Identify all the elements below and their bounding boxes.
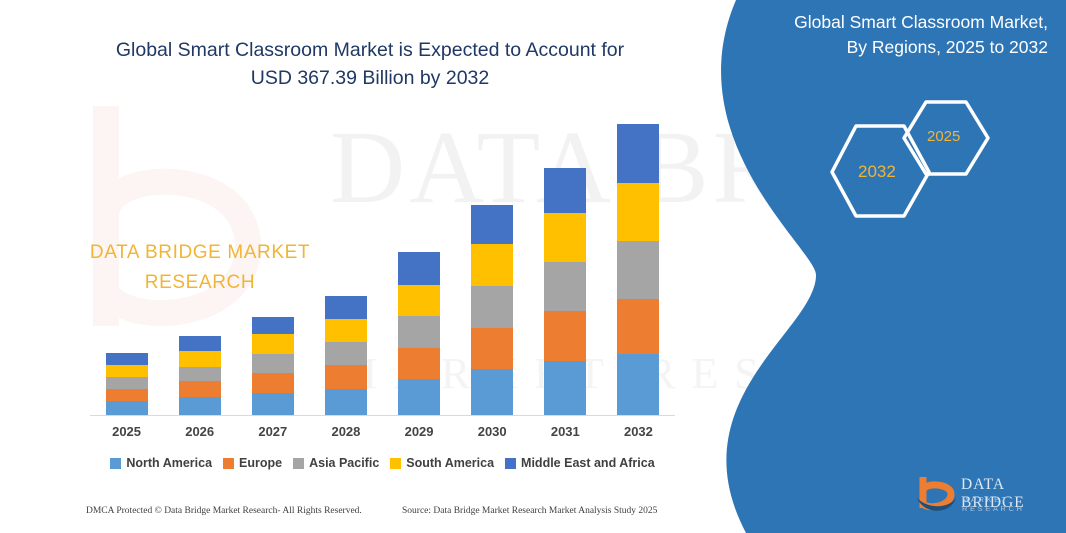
bar-segment-north-america	[471, 369, 513, 415]
bar-segment-asia-pacific	[398, 316, 440, 347]
legend-swatch-icon	[390, 458, 401, 469]
legend-label: Middle East and Africa	[521, 456, 655, 470]
panel-shape	[666, 0, 1066, 533]
legend-swatch-icon	[293, 458, 304, 469]
databridge-logo: DATA BRIDGE MARKET RESEARCH	[915, 474, 1055, 520]
bar-segment-south-america	[544, 213, 586, 262]
bar-segment-europe	[544, 311, 586, 360]
bar-segment-north-america	[544, 361, 586, 416]
panel-brand-line-2: RESEARCH	[0, 268, 400, 298]
bar-segment-north-america	[398, 379, 440, 415]
legend-label: North America	[126, 456, 212, 470]
x-axis-label-2032: 2032	[603, 424, 673, 439]
hexagon-label-2032: 2032	[858, 162, 896, 182]
bar-segment-europe	[398, 348, 440, 379]
bar-segment-middle-east-and-africa	[252, 317, 294, 335]
bar-segment-north-america	[252, 393, 294, 415]
bar-2025	[106, 353, 148, 415]
bar-segment-asia-pacific	[471, 286, 513, 328]
panel-brand-text: DATA BRIDGE MARKET RESEARCH	[0, 238, 400, 298]
chart-legend: North AmericaEuropeAsia PacificSouth Ame…	[90, 456, 675, 470]
x-axis-line	[90, 415, 675, 416]
bar-segment-asia-pacific	[252, 354, 294, 373]
x-axis-label-2030: 2030	[457, 424, 527, 439]
bar-2027	[252, 317, 294, 415]
bar-segment-south-america	[617, 183, 659, 241]
bar-segment-north-america	[179, 397, 221, 415]
bar-segment-north-america	[617, 354, 659, 415]
footer: DMCA Protected © Data Bridge Market Rese…	[0, 506, 700, 526]
bar-segment-europe	[471, 328, 513, 369]
bar-segment-middle-east-and-africa	[544, 168, 586, 213]
legend-swatch-icon	[505, 458, 516, 469]
x-axis-label-2028: 2028	[311, 424, 381, 439]
panel-title-line-1: Global Smart Classroom Market,	[794, 12, 1048, 32]
bar-segment-south-america	[252, 334, 294, 354]
bar-segment-south-america	[106, 365, 148, 378]
brand-panel: Global Smart Classroom Market, By Region…	[666, 0, 1066, 533]
bar-segment-asia-pacific	[325, 342, 367, 365]
bar-segment-europe	[179, 381, 221, 397]
bar-segment-south-america	[398, 285, 440, 316]
hexagon-label-2025: 2025	[927, 128, 960, 145]
legend-swatch-icon	[223, 458, 234, 469]
x-axis-label-2026: 2026	[165, 424, 235, 439]
x-axis-label-2031: 2031	[530, 424, 600, 439]
bar-segment-middle-east-and-africa	[179, 336, 221, 351]
bar-segment-middle-east-and-africa	[471, 205, 513, 244]
legend-item-north-america[interactable]: North America	[110, 456, 212, 470]
bar-segment-asia-pacific	[617, 241, 659, 299]
legend-item-asia-pacific[interactable]: Asia Pacific	[293, 456, 379, 470]
databridge-b-mark-icon	[915, 474, 959, 516]
panel-brand-line-1: DATA BRIDGE MARKET	[90, 242, 310, 263]
bar-segment-middle-east-and-africa	[325, 296, 367, 319]
bar-2032	[617, 124, 659, 415]
x-axis-labels: 20252026202720282029203020312032	[90, 424, 675, 446]
bar-segment-asia-pacific	[544, 262, 586, 311]
legend-item-middle-east-and-africa[interactable]: Middle East and Africa	[505, 456, 655, 470]
bar-segment-south-america	[179, 351, 221, 367]
bar-segment-north-america	[106, 401, 148, 415]
bar-segment-europe	[617, 299, 659, 355]
page-title: Global Smart Classroom Market is Expecte…	[60, 36, 680, 92]
hexagon-group: 2025 2032	[826, 100, 1006, 220]
panel-title: Global Smart Classroom Market, By Region…	[748, 10, 1048, 60]
legend-item-south-america[interactable]: South America	[390, 456, 494, 470]
bar-segment-middle-east-and-africa	[398, 252, 440, 286]
bar-segment-middle-east-and-africa	[617, 124, 659, 184]
footer-source: Source: Data Bridge Market Research Mark…	[402, 506, 657, 516]
bar-segment-north-america	[325, 389, 367, 415]
footer-copyright: DMCA Protected © Data Bridge Market Rese…	[86, 506, 362, 516]
bar-2028	[325, 296, 367, 415]
bar-segment-south-america	[325, 319, 367, 342]
bar-segment-asia-pacific	[106, 377, 148, 389]
legend-label: Asia Pacific	[309, 456, 379, 470]
x-axis-label-2027: 2027	[238, 424, 308, 439]
legend-swatch-icon	[110, 458, 121, 469]
bar-2031	[544, 168, 586, 415]
bar-segment-europe	[252, 373, 294, 393]
bar-segment-europe	[106, 389, 148, 402]
bar-2026	[179, 336, 221, 415]
legend-label: South America	[406, 456, 494, 470]
logo-text-sub: MARKET RESEARCH	[962, 495, 1055, 513]
headline-line-1: Global Smart Classroom Market is Expecte…	[116, 39, 624, 61]
x-axis-label-2025: 2025	[92, 424, 162, 439]
legend-item-europe[interactable]: Europe	[223, 456, 282, 470]
headline-line-2: USD 367.39 Billion by 2032	[251, 67, 490, 89]
bar-2029	[398, 252, 440, 415]
legend-label: Europe	[239, 456, 282, 470]
panel-title-line-2: By Regions, 2025 to 2032	[847, 37, 1048, 57]
x-axis-label-2029: 2029	[384, 424, 454, 439]
hexagon-shapes	[826, 100, 1006, 220]
bar-segment-asia-pacific	[179, 367, 221, 382]
infographic-canvas: DATA BRIDGE MARKET RESEARCH Global Smart…	[0, 0, 1066, 533]
bar-segment-europe	[325, 365, 367, 389]
bar-segment-middle-east-and-africa	[106, 353, 148, 365]
bar-2030	[471, 205, 513, 415]
bar-segment-south-america	[471, 244, 513, 286]
